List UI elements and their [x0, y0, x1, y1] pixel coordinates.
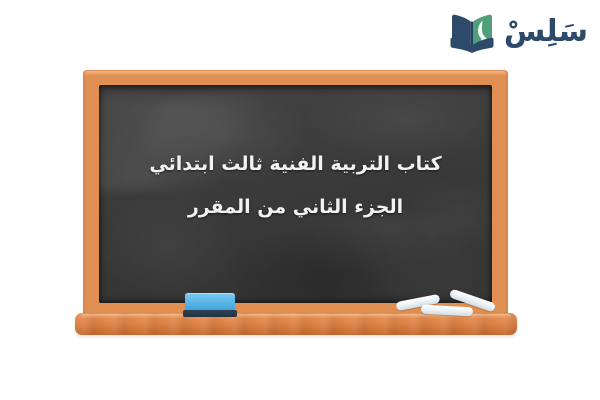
chalk-sticks	[395, 286, 507, 318]
open-book-icon	[449, 12, 495, 54]
blackboard-title-line-1: كتاب التربية الفنية ثالث ابتدائي	[113, 155, 478, 174]
blackboard: كتاب التربية الفنية ثالث ابتدائي الجزء ا…	[75, 70, 517, 338]
brand-wordmark: سَلِسْ	[504, 17, 588, 47]
blackboard-text: كتاب التربية الفنية ثالث ابتدائي الجزء ا…	[99, 155, 492, 217]
blackboard-title-line-2: الجزء الثاني من المقرر	[113, 198, 478, 217]
page-canvas: سَلِسْ كتاب التربية الفنية ثالث ابتدائي	[0, 0, 600, 400]
eraser-felt	[183, 310, 237, 317]
chalk-stick-2	[421, 305, 473, 317]
blackboard-surface: كتاب التربية الفنية ثالث ابتدائي الجزء ا…	[99, 85, 492, 303]
blackboard-eraser	[183, 292, 237, 317]
brand-logo[interactable]: سَلِسْ	[449, 8, 588, 58]
blackboard-frame: كتاب التربية الفنية ثالث ابتدائي الجزء ا…	[83, 70, 508, 317]
